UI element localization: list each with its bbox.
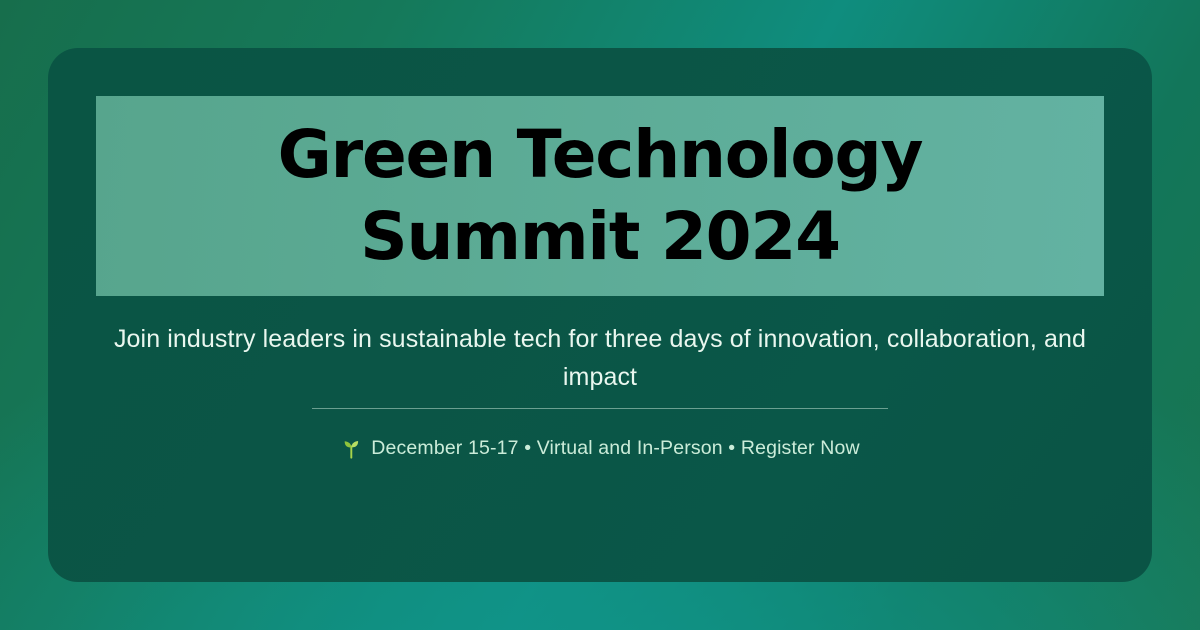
title-band: Green Technology Summit 2024 <box>96 96 1104 296</box>
sprout-icon <box>340 437 362 459</box>
event-banner: Green Technology Summit 2024 Join indust… <box>0 0 1200 630</box>
event-title-line-1: Green Technology <box>278 114 923 196</box>
event-meta-text: December 15-17 • Virtual and In-Person •… <box>371 436 859 460</box>
divider <box>312 408 888 409</box>
event-meta-row: December 15-17 • Virtual and In-Person •… <box>340 436 859 460</box>
event-card: Green Technology Summit 2024 Join indust… <box>48 48 1152 582</box>
event-subtitle: Join industry leaders in sustainable tec… <box>95 320 1105 396</box>
event-title-line-2: Summit 2024 <box>360 196 840 278</box>
